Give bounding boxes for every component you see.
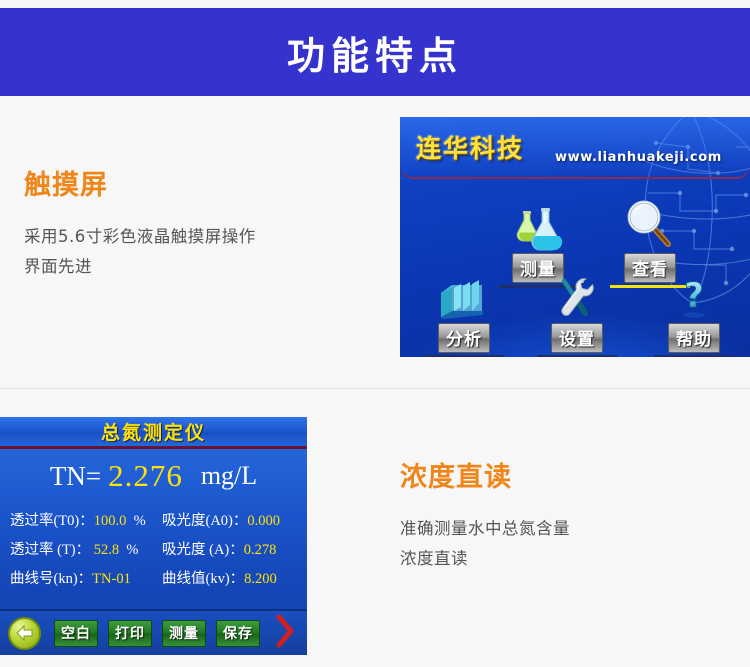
lcd-title-bar: 总氮测定仪 <box>0 417 307 449</box>
page-root: 功能特点 触摸屏 采用5.6寸彩色液晶触摸屏操作 界面先进 <box>0 0 750 667</box>
device-menu-label: 分析 <box>438 323 490 353</box>
row-unit-1: % <box>126 513 145 530</box>
lcd-button-print[interactable]: 打印 <box>108 620 152 647</box>
device-menu-label: 设置 <box>551 323 603 353</box>
feature-block-concentration: 浓度直读 准确测量水中总氮含量 浓度直读 <box>400 455 730 574</box>
lcd-button-save[interactable]: 保存 <box>216 620 260 647</box>
magnifier-icon <box>608 195 692 251</box>
reading-value: 2.276 <box>108 458 183 494</box>
feature-description-line-1: 采用5.6寸彩色液晶触摸屏操作 <box>24 222 364 252</box>
reading-unit: mg/L <box>201 461 257 491</box>
page-banner: 功能特点 <box>0 8 750 96</box>
feature-description: 准确测量水中总氮含量 浓度直读 <box>400 514 730 574</box>
svg-text:?: ? <box>684 276 704 316</box>
lcd-toolbar: 空白 打印 测量 保存 <box>0 609 307 655</box>
row-value-2: 0.278 <box>244 542 277 559</box>
feature-heading: 浓度直读 <box>400 455 730 494</box>
row-key-1: 透过率(T0)： <box>10 509 94 530</box>
device-menu-underline <box>537 355 617 357</box>
device-menu-underline <box>654 355 734 357</box>
row-value-2: 8.200 <box>244 571 277 588</box>
brand-logo-text: 连华科技 <box>416 129 524 165</box>
device-menu-item-settings[interactable]: 设置 <box>535 275 619 357</box>
device-menu-item-analysis[interactable]: 分析 <box>422 275 506 357</box>
row-key-2: 吸光度 (A)： <box>162 538 244 559</box>
lcd-title: 总氮测定仪 <box>101 418 206 445</box>
lcd-data-rows: 透过率(T0)： 100.0 % 吸光度(A0)： 0.000 透过率 (T)：… <box>10 509 300 596</box>
wrench-screwdriver-icon <box>535 275 619 321</box>
lcd-button-blank[interactable]: 空白 <box>54 620 98 647</box>
lcd-data-row: 曲线号(kn)： TN-01 曲线值(kv)： 8.200 <box>10 567 300 596</box>
device-menu-underline <box>424 355 504 357</box>
device-menu-label: 帮助 <box>668 323 720 353</box>
next-chevron-icon[interactable] <box>275 614 295 653</box>
section-divider <box>0 388 750 389</box>
feature-block-touchscreen: 触摸屏 采用5.6寸彩色液晶触摸屏操作 界面先进 <box>24 163 364 282</box>
feature-description-line-2: 浓度直读 <box>400 544 730 574</box>
reading-label: TN= <box>50 461 101 492</box>
page-title: 功能特点 <box>287 25 463 80</box>
row-value-1: TN-01 <box>92 571 131 588</box>
row-value-1: 52.8 <box>90 542 119 559</box>
row-value-1: 100.0 <box>94 513 127 530</box>
row-key-2: 曲线值(kv)： <box>162 567 244 588</box>
row-key-2: 吸光度(A0)： <box>162 509 247 530</box>
row-key-1: 透过率 (T)： <box>10 538 90 559</box>
instrument-lcd-panel: 总氮测定仪 TN= 2.276 mg/L 透过率(T0)： 100.0 % 吸光… <box>0 417 307 655</box>
device-menu-item-help[interactable]: ? 帮助 <box>652 275 736 357</box>
feature-description-line-2: 界面先进 <box>24 252 364 282</box>
feature-description-line-1: 准确测量水中总氮含量 <box>400 514 730 544</box>
feature-heading: 触摸屏 <box>24 163 364 202</box>
row-value-2: 0.000 <box>247 513 280 530</box>
feature-description: 采用5.6寸彩色液晶触摸屏操作 界面先进 <box>24 222 364 282</box>
lcd-data-row: 透过率(T0)： 100.0 % 吸光度(A0)： 0.000 <box>10 509 300 538</box>
lcd-primary-reading: TN= 2.276 mg/L <box>0 452 307 500</box>
flask-icon <box>496 205 580 251</box>
device-screen-photo: 连华科技 www.lianhuakeji.com 测量 <box>400 117 750 357</box>
lcd-data-row: 透过率 (T)： 52.8 % 吸光度 (A)： 0.278 <box>10 538 300 567</box>
lcd-button-measure[interactable]: 测量 <box>162 620 206 647</box>
row-unit-1: % <box>119 542 138 559</box>
row-key-1: 曲线号(kn)： <box>10 567 92 588</box>
brand-website-url: www.lianhuakeji.com <box>555 150 722 165</box>
question-mark-icon: ? <box>652 275 736 321</box>
bar-chart-icon <box>422 275 506 321</box>
back-arrow-icon[interactable] <box>8 617 41 650</box>
